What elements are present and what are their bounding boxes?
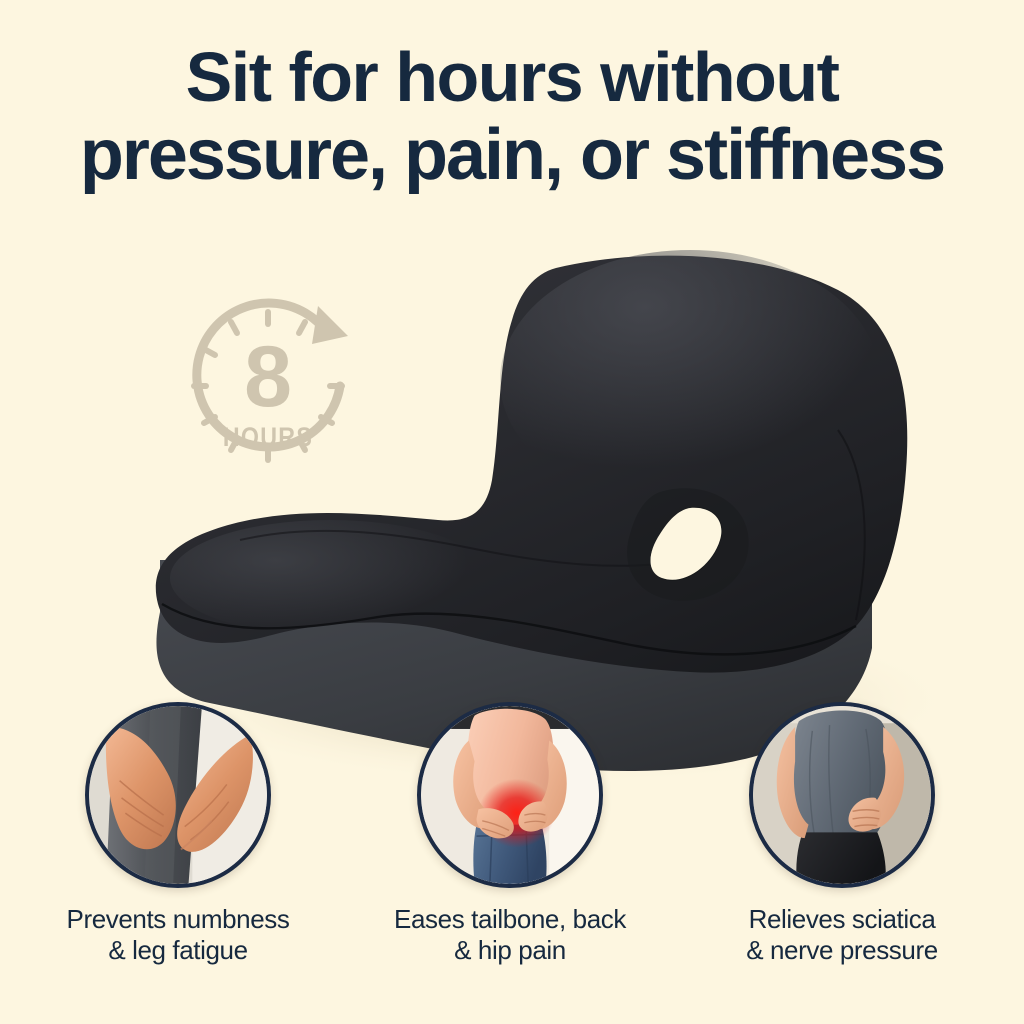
lower-back-pain-icon [421, 706, 599, 884]
benefit-eases-tailbone-back-hip: Eases tailbone, back & hip pain [410, 702, 610, 966]
benefit-prevents-numbness: Prevents numbness & leg fatigue [78, 702, 278, 966]
benefit-relieves-sciatica: Relieves sciatica & nerve pressure [742, 702, 942, 966]
benefit-image-3 [749, 702, 935, 888]
infographic-canvas: Sit for hours without pressure, pain, or… [0, 0, 1024, 1024]
benefit-caption-3: Relieves sciatica & nerve pressure [677, 904, 1007, 966]
hands-on-thigh-icon [89, 706, 267, 884]
benefit-caption-2: Eases tailbone, back & hip pain [345, 904, 675, 966]
man-holding-back-icon [753, 706, 931, 884]
benefit-image-2 [417, 702, 603, 888]
benefit-caption-1: Prevents numbness & leg fatigue [13, 904, 343, 966]
benefit-image-1 [85, 702, 271, 888]
